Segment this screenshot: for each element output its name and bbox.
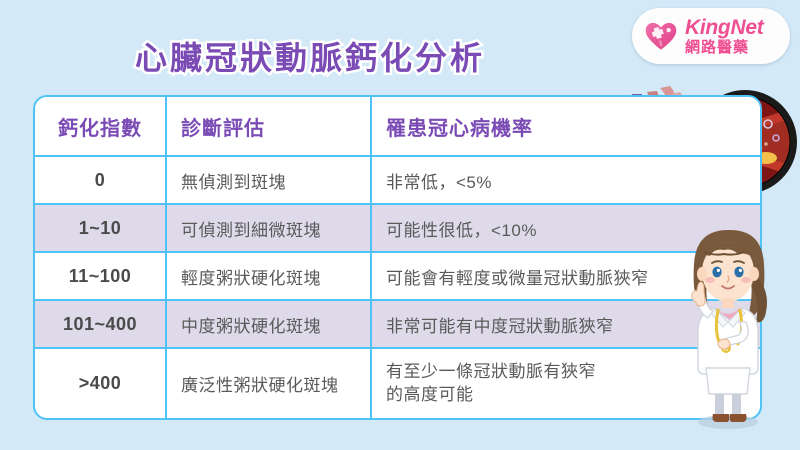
kingnet-logo[interactable]: KingNet 網路醫藥 [632, 8, 790, 64]
header-cell-index: 鈣化指數 [35, 97, 167, 155]
cell-value: 非常可能有中度冠狀動脈狹窄 [386, 312, 614, 337]
cell-value: 101~400 [63, 314, 137, 335]
header-cell-assessment: 診斷評估 [167, 97, 372, 155]
logo-name: KingNet [685, 17, 763, 38]
cell-value: 無偵測到斑塊 [181, 168, 286, 193]
cell-value: 廣泛性粥狀硬化斑塊 [181, 371, 339, 396]
cell-assessment: 廣泛性粥狀硬化斑塊 [167, 349, 372, 418]
cell-index: 1~10 [35, 205, 167, 251]
header-label: 罹患冠心病機率 [386, 112, 533, 141]
table-header-row: 鈣化指數 診斷評估 罹患冠心病機率 [35, 97, 760, 157]
table-row: >400 廣泛性粥狀硬化斑塊 有至少一條冠狀動脈有狹窄 的高度可能 [35, 349, 760, 418]
cell-assessment: 中度粥狀硬化斑塊 [167, 301, 372, 347]
table-row: 1~10 可偵測到細微斑塊 可能性很低，<10% [35, 205, 760, 253]
cell-value: 1~10 [79, 218, 122, 239]
heart-icon [644, 19, 678, 53]
cell-assessment: 無偵測到斑塊 [167, 157, 372, 203]
cell-value: 0 [95, 170, 106, 191]
cell-value: 可偵測到細微斑塊 [181, 216, 321, 241]
cell-value: 11~100 [69, 266, 132, 287]
cell-assessment: 輕度粥狀硬化斑塊 [167, 253, 372, 299]
header-cell-risk: 罹患冠心病機率 [372, 97, 760, 155]
cell-assessment: 可偵測到細微斑塊 [167, 205, 372, 251]
cell-value: >400 [79, 373, 122, 394]
cell-index: >400 [35, 349, 167, 418]
cell-value: 中度粥狀硬化斑塊 [181, 312, 321, 337]
calcium-score-table: 鈣化指數 診斷評估 罹患冠心病機率 0 無偵測到斑塊 非常低，<5% 1~10 [33, 95, 762, 420]
cell-index: 0 [35, 157, 167, 203]
cell-value-line2: 的高度可能 [386, 385, 474, 404]
cell-risk: 非常低，<5% [372, 157, 760, 203]
cell-value: 非常低，<5% [386, 168, 492, 193]
table-row: 0 無偵測到斑塊 非常低，<5% [35, 157, 760, 205]
cell-value: 可能會有輕度或微量冠狀動脈狹窄 [386, 264, 649, 289]
page-title: 心臟冠狀動脈鈣化分析 [0, 33, 620, 79]
cell-value: 輕度粥狀硬化斑塊 [181, 264, 321, 289]
female-doctor-pointing-icon: K [668, 222, 788, 432]
cell-index: 101~400 [35, 301, 167, 347]
table-row: 101~400 中度粥狀硬化斑塊 非常可能有中度冠狀動脈狹窄 [35, 301, 760, 349]
table-row: 11~100 輕度粥狀硬化斑塊 可能會有輕度或微量冠狀動脈狹窄 [35, 253, 760, 301]
logo-subtitle: 網路醫藥 [685, 40, 763, 55]
header-label: 鈣化指數 [58, 112, 142, 141]
cell-value-line1: 有至少一條冠狀動脈有狹窄 [386, 362, 596, 381]
infographic-canvas: KingNet 網路醫藥 心臟冠狀動脈鈣化分析 [0, 0, 800, 450]
cell-index: 11~100 [35, 253, 167, 299]
header-label: 診斷評估 [181, 112, 265, 141]
cell-value: 可能性很低，<10% [386, 216, 537, 241]
